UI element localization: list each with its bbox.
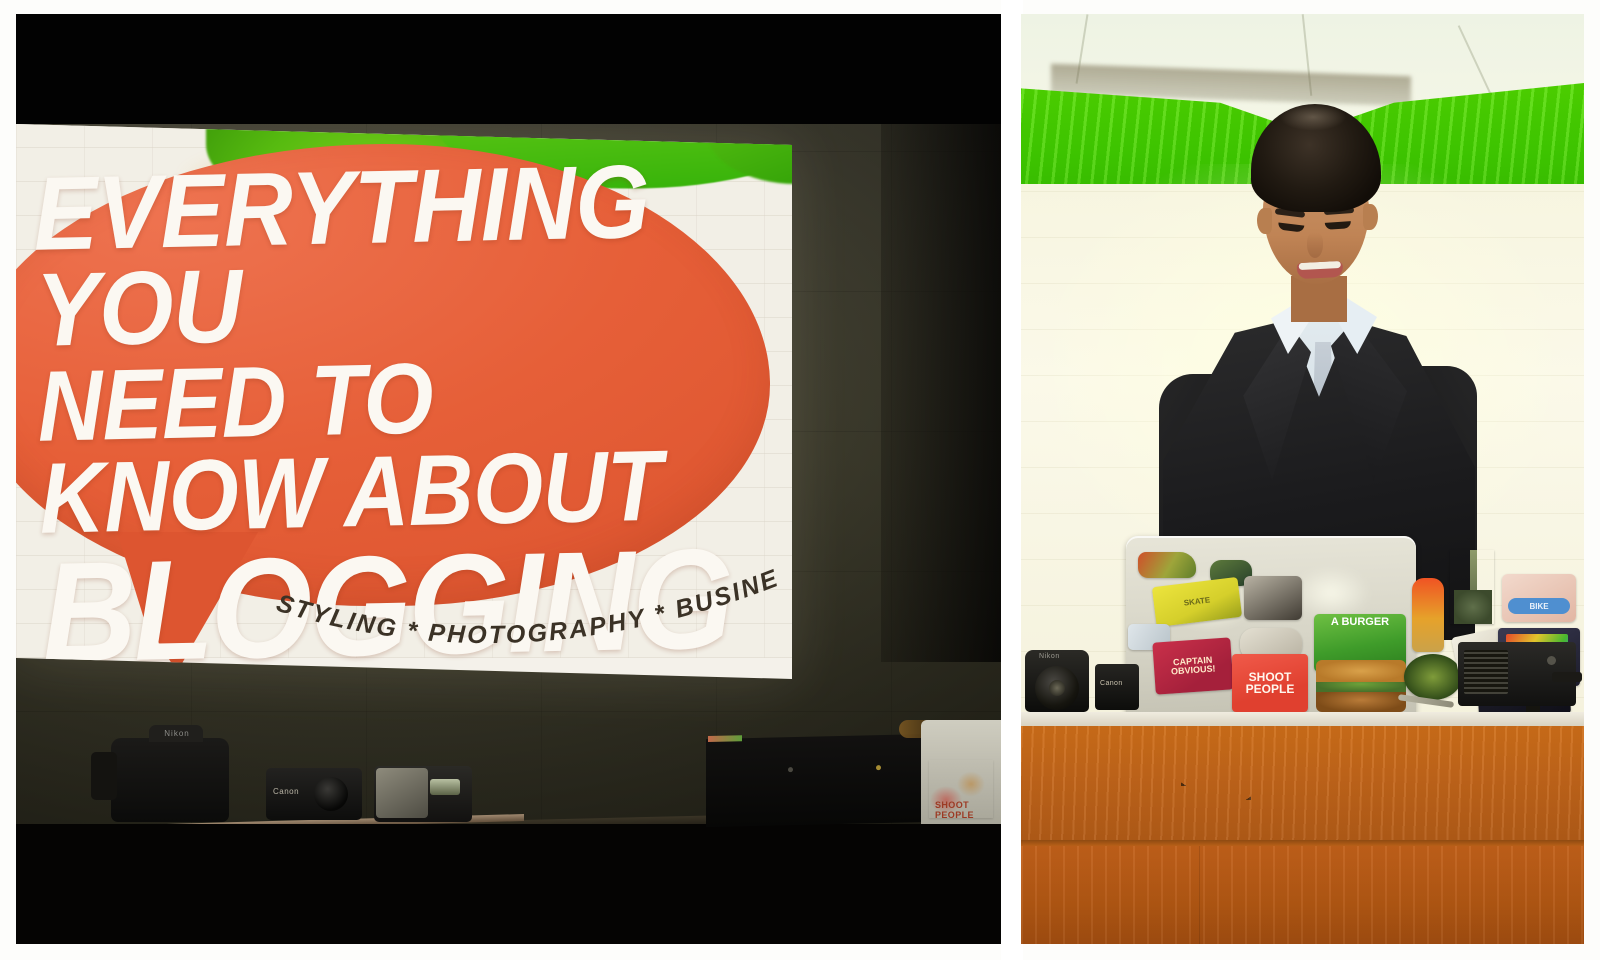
canon-compact-camera-left: Canon (266, 768, 362, 820)
podium-front-lower (1021, 846, 1584, 944)
nikon-dslr-camera-left: Nikon (111, 738, 229, 822)
collage-gutter (1001, 0, 1023, 960)
burger-illustration (1316, 660, 1406, 712)
camera-screen (430, 779, 460, 795)
sticker-text-edge: SHOOT PEOPLE (935, 800, 1001, 820)
wooden-podium (1021, 712, 1584, 944)
bicycle-sticker-label: BIKE (1508, 598, 1570, 614)
nikon-logo-text: Nikon (157, 729, 197, 737)
captain-obvious-sticker: CAPTAIN OBVIOUS! (1152, 637, 1233, 694)
av-box-indicator-2 (876, 765, 881, 770)
av-box-indicator-1 (788, 767, 793, 772)
nikon-compact-camera-left (374, 766, 472, 822)
av-box-color-strip (708, 735, 742, 742)
projector-cable-plug (1552, 672, 1582, 682)
projector-vents (1464, 650, 1508, 694)
nikon-dslr-camera-right: Nikon (1025, 650, 1089, 712)
popsicle-sticker (1412, 578, 1444, 652)
camera-silver-body (376, 768, 428, 818)
canon-logo-text-right: Canon (1100, 680, 1123, 687)
projector-knob (1547, 656, 1556, 665)
nikon-logo-text-right: Nikon (1039, 653, 1060, 660)
milk-bowl-sticker (1404, 654, 1462, 700)
hair (1251, 104, 1381, 212)
guitar-sticker (1450, 550, 1494, 624)
dog-sticker (1244, 576, 1302, 620)
podium-front-upper (1021, 726, 1584, 844)
dark-ceiling-band (16, 14, 1001, 124)
canon-logo-text: Canon (273, 787, 299, 796)
camera-lens (314, 777, 348, 811)
slide-subtitle: STYLING * PHOTOGRAPHY * BUSINESS * MARKE… (271, 576, 791, 679)
dinosaur-sticker (1138, 552, 1196, 578)
camera-lens-right (1035, 666, 1079, 710)
slide-headline-line-2: NEED TO KNOW ABOUT (37, 347, 707, 545)
ear-right (1363, 204, 1378, 230)
smiling-mouth (1297, 261, 1344, 279)
slide-headline-line-1: EVERYTHING YOU (33, 154, 718, 360)
nose (1307, 232, 1323, 258)
podium-scuff-mark (1181, 768, 1251, 800)
canon-compact-camera-right: Canon (1095, 664, 1139, 710)
right-photo-panel: SKATE CAPTAIN OBVIOUS! SHOOT PEOPLE A BU… (1021, 14, 1584, 944)
projection-screen: EVERYTHING YOU NEED TO KNOW ABOUT BLOGGI… (16, 124, 792, 679)
projector-device (1458, 642, 1576, 706)
sticker-covered-laptop: SKATE CAPTAIN OBVIOUS! SHOOT PEOPLE A BU… (1126, 536, 1416, 718)
ear-left (1257, 208, 1272, 234)
stage-front-black (16, 824, 1001, 944)
left-photo-panel: EVERYTHING YOU NEED TO KNOW ABOUT BLOGGI… (16, 14, 1001, 944)
photo-collage: EVERYTHING YOU NEED TO KNOW ABOUT BLOGGI… (0, 0, 1600, 960)
laptop-edge-sliver: SHOOT PEOPLE (921, 720, 1001, 824)
shoot-people-sticker: SHOOT PEOPLE (1232, 654, 1308, 712)
